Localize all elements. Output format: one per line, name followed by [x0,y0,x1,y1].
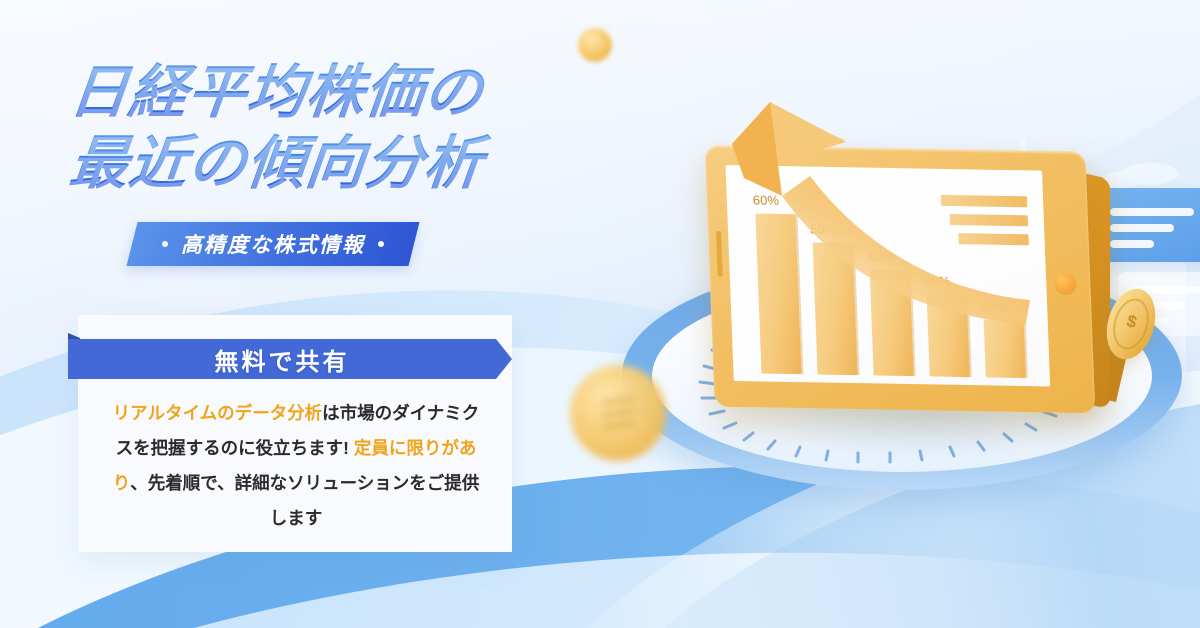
subtitle-badge: 高精度な株式情報 [127,222,420,266]
tablet-screen: 60% 50% 40% 30% 20% [725,165,1050,386]
bar-label-2: 50% [810,222,837,237]
bar-chart: 60% 50% 40% 30% 20% [743,165,1050,378]
bar-label-5: 20% [981,298,1008,313]
bar-1 [755,214,801,375]
bar-5 [984,319,1026,378]
chart-illustration: 60% 50% 40% 30% 20% [560,10,1200,530]
bar-label-1: 60% [753,193,780,208]
tablet-device: 60% 50% 40% 30% 20% [705,145,1096,413]
bar-3 [870,269,914,376]
coin-top [578,28,612,62]
tablet-home-button [1054,273,1077,295]
headline-line-2: 最近の傾向分析 [66,129,593,200]
bar-2 [813,243,858,376]
subtitle-badge-label: 高精度な株式情報 [181,229,365,259]
body-text-2: 、先着順で、詳細なソリューションをご提供します [130,473,479,528]
dot-bullet-icon [162,241,168,247]
page-title: 日経平均株価の 最近の傾向分析 [70,58,590,200]
offer-description: リアルタイムのデータ分析は市場のダイナミクスを把握するのに役立ちます! 定員に限… [110,396,482,536]
highlight-text-1: リアルタイムのデータ分析 [113,403,322,423]
tablet-speaker-icon [716,231,723,277]
bar-label-3: 40% [867,248,894,263]
bar-label-4: 30% [924,273,951,288]
bar-4 [927,294,970,377]
ribbon-label: 無料で共有 [215,342,350,377]
coin-left-blurred [570,365,666,461]
headline-line-1: 日経平均株価の [66,58,593,129]
hero-banner: 日経平均株価の 最近の傾向分析 高精度な株式情報 無料で共有 リアルタイムのデー… [0,0,1200,628]
ribbon-banner: 無料で共有 [68,337,512,381]
dot-bullet-icon [378,241,384,247]
yen-symbol-icon [600,389,636,437]
